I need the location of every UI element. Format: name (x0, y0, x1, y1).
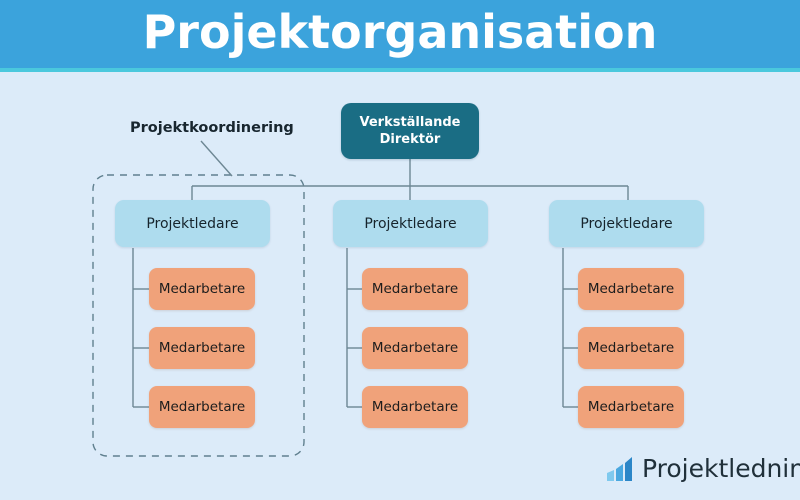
node-lead-1[interactable]: Projektledare (115, 200, 270, 247)
node-member-3-1-label: Medarbetare (588, 281, 674, 298)
node-member-2-1[interactable]: Medarbetare (362, 268, 468, 310)
node-member-2-1-label: Medarbetare (372, 281, 458, 298)
node-ceo-line1: Verkställande (359, 114, 460, 131)
node-member-1-1-label: Medarbetare (159, 281, 245, 298)
node-lead-3-label: Projektledare (580, 215, 672, 233)
node-member-2-3[interactable]: Medarbetare (362, 386, 468, 428)
node-member-1-2-label: Medarbetare (159, 340, 245, 357)
node-member-3-2-label: Medarbetare (588, 340, 674, 357)
node-lead-1-label: Projektledare (146, 215, 238, 233)
node-member-3-3[interactable]: Medarbetare (578, 386, 684, 428)
node-lead-2[interactable]: Projektledare (333, 200, 488, 247)
node-member-1-3-label: Medarbetare (159, 399, 245, 416)
brand-name: Projektledning (642, 455, 800, 483)
node-lead-2-label: Projektledare (364, 215, 456, 233)
brand-logo[interactable]: Projektledning (606, 455, 800, 483)
org-chart-page: Projektorganisation Projektkoordinering (0, 0, 800, 500)
node-ceo[interactable]: Verkställande Direktör (341, 103, 479, 159)
bar-chart-icon (606, 456, 636, 482)
coordination-pointer-line (201, 141, 232, 176)
node-member-3-2[interactable]: Medarbetare (578, 327, 684, 369)
node-member-2-3-label: Medarbetare (372, 399, 458, 416)
node-member-3-1[interactable]: Medarbetare (578, 268, 684, 310)
node-member-2-2-label: Medarbetare (372, 340, 458, 357)
node-lead-3[interactable]: Projektledare (549, 200, 704, 247)
coordination-label: Projektkoordinering (130, 120, 294, 136)
node-member-1-1[interactable]: Medarbetare (149, 268, 255, 310)
node-member-1-2[interactable]: Medarbetare (149, 327, 255, 369)
node-ceo-line2: Direktör (359, 131, 460, 148)
page-title: Projektorganisation (0, 0, 800, 68)
node-member-3-3-label: Medarbetare (588, 399, 674, 416)
node-member-2-2[interactable]: Medarbetare (362, 327, 468, 369)
node-member-1-3[interactable]: Medarbetare (149, 386, 255, 428)
header-accent-strip (0, 68, 800, 72)
